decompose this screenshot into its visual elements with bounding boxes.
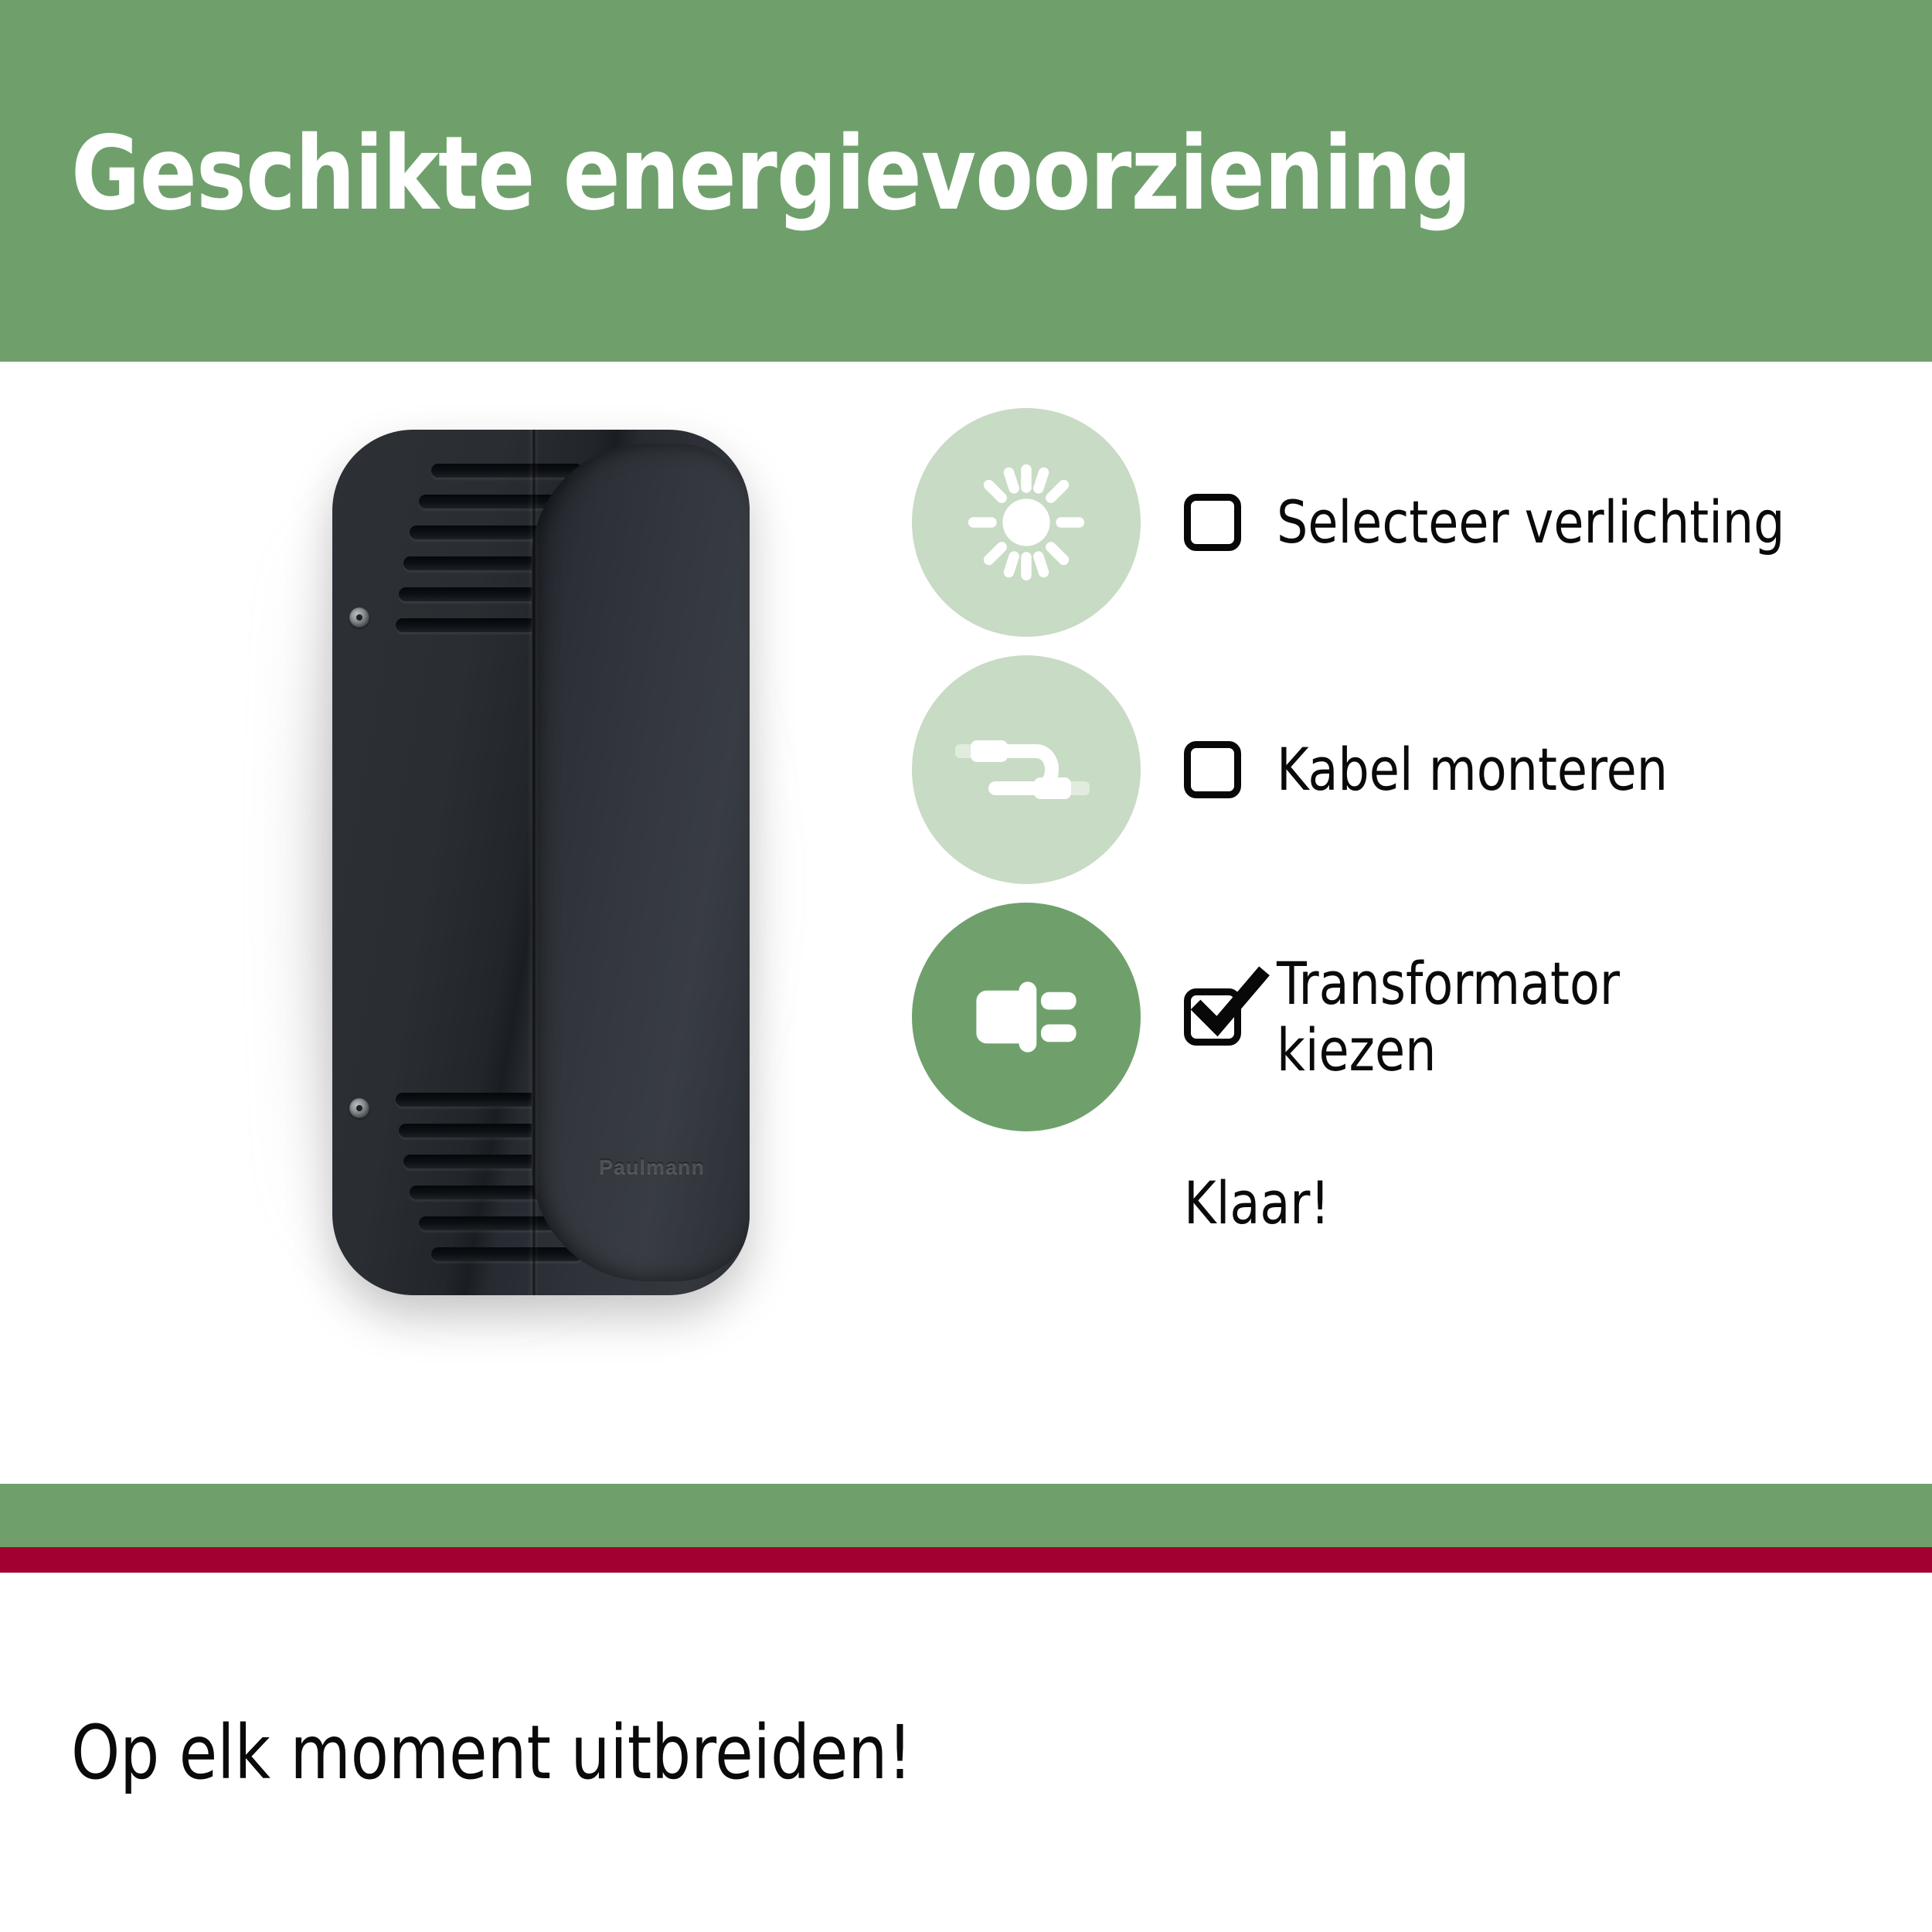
configuration-checklist: Selecteer verlichting Kabel monter	[912, 399, 1901, 1237]
mounting-screw-bottom	[349, 1098, 369, 1118]
cable-icon	[949, 692, 1104, 847]
checklist-item-lighting[interactable]: Selecteer verlichting	[912, 399, 1901, 646]
product-housing: Paulmann	[332, 430, 750, 1295]
brand-logo-emboss: Paulmann	[599, 1155, 705, 1179]
checklist-item-cable-right: Kabel monteren	[1184, 736, 1697, 803]
checkbox-transformer[interactable]	[1184, 988, 1241, 1046]
checklist-item-lighting-right: Selecteer verlichting	[1184, 489, 1823, 556]
plug-icon	[953, 944, 1100, 1090]
page-title: Geschikte energievoorziening	[71, 116, 1471, 232]
header-banner: Geschikte energievoorziening	[0, 0, 1932, 362]
checklist-done-label: Klaar!	[1184, 1168, 1851, 1237]
checkmark-icon	[1180, 961, 1273, 1054]
checklist-item-transformer[interactable]: Transformator kiezen	[912, 893, 1901, 1141]
checkbox-cable[interactable]	[1184, 741, 1241, 798]
promo-infographic: Geschikte energievoorziening	[0, 0, 1932, 1932]
checkbox-lighting[interactable]	[1184, 494, 1241, 551]
footer-tagline: Op elk moment uitbreiden!	[71, 1709, 912, 1796]
plug-icon-badge	[912, 903, 1141, 1131]
product-image: Paulmann	[255, 393, 889, 1359]
cable-icon-badge	[912, 655, 1141, 884]
main-content: Paulmann	[0, 362, 1932, 1547]
sun-icon	[957, 453, 1096, 592]
checklist-item-cable-label: Kabel monteren	[1277, 736, 1668, 803]
footer-accent-bar	[0, 1547, 1932, 1573]
housing-seam	[528, 430, 539, 1295]
mounting-screw-top	[349, 607, 369, 628]
checklist-item-cable[interactable]: Kabel monteren	[912, 646, 1901, 893]
checklist-item-transformer-right: Transformator kiezen	[1184, 951, 1645, 1083]
checklist-item-lighting-label: Selecteer verlichting	[1277, 489, 1785, 556]
footer-green-bar	[0, 1484, 1932, 1547]
checklist-item-transformer-label: Transformator kiezen	[1277, 951, 1620, 1083]
sun-icon-badge	[912, 408, 1141, 637]
